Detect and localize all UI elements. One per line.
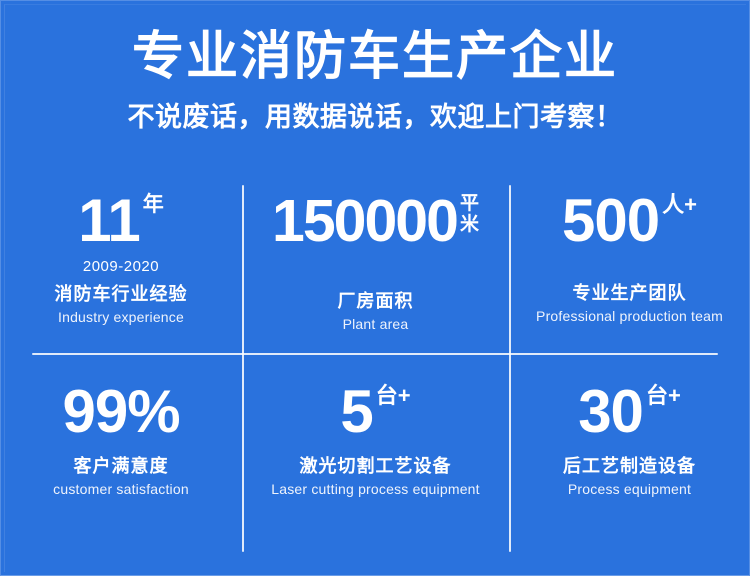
stat-unit: 台+	[376, 385, 411, 407]
stat-label-cn: 消防车行业经验	[55, 283, 188, 305]
stat-year-range: 2009-2020	[83, 258, 159, 276]
page-title: 专业消防车生产企业	[0, 26, 750, 88]
stat-unit-bottom: 米	[460, 214, 479, 235]
stat-label-cn: 厂房面积	[338, 290, 414, 312]
stat-value: 11	[78, 190, 139, 252]
stat-label-en: Professional production team	[536, 307, 723, 325]
stat-value-row: 11 年	[78, 190, 163, 252]
stat-label-en: customer satisfaction	[53, 480, 189, 498]
stat-label-en: Process equipment	[568, 480, 691, 498]
stat-value-row: 500 人+	[562, 190, 697, 252]
stat-cell-industry-experience: 11 年 2009-2020 消防车行业经验 Industry experien…	[0, 178, 242, 353]
stat-value: 30	[578, 381, 643, 443]
stat-unit: 人+	[662, 194, 697, 216]
stat-unit: 年	[143, 194, 164, 216]
promo-banner: 专业消防车生产企业 不说废话，用数据说话，欢迎上门考察！ 11 年 2009-2…	[0, 0, 750, 576]
stat-cell-customer-satisfaction: 99% 客户满意度 customer satisfaction	[0, 353, 242, 552]
stat-label-cn: 客户满意度	[74, 455, 169, 477]
stat-cell-plant-area: 150000 平 米 厂房面积 Plant area	[242, 178, 509, 353]
stat-label-cn: 激光切割工艺设备	[300, 455, 452, 477]
stat-label-en: Industry experience	[58, 308, 184, 326]
stat-value: 5	[340, 381, 372, 443]
stat-cell-production-team: 500 人+ 专业生产团队 Professional production te…	[509, 178, 750, 353]
stat-value-row: 150000 平 米	[272, 190, 479, 252]
stat-value: 500	[562, 190, 659, 252]
stat-label-cn: 后工艺制造设备	[563, 455, 696, 477]
stat-cell-process-equipment: 30 台+ 后工艺制造设备 Process equipment	[509, 353, 750, 552]
stat-label-en: Plant area	[343, 315, 409, 333]
stat-value: 150000	[272, 190, 457, 252]
stat-unit-top: 平	[460, 193, 479, 214]
stat-value-row: 5 台+	[340, 381, 410, 443]
stat-cell-laser-cutting-equipment: 5 台+ 激光切割工艺设备 Laser cutting process equi…	[242, 353, 509, 552]
banner-header: 专业消防车生产企业 不说废话，用数据说话，欢迎上门考察！	[0, 26, 750, 134]
stats-grid: 11 年 2009-2020 消防车行业经验 Industry experien…	[0, 178, 750, 552]
stat-value-row: 99%	[62, 381, 179, 443]
stat-unit: 平 米	[460, 193, 479, 235]
stat-value: 99%	[62, 381, 179, 443]
stat-unit: 台+	[646, 385, 681, 407]
page-subtitle: 不说废话，用数据说话，欢迎上门考察！	[0, 100, 750, 134]
stat-label-cn: 专业生产团队	[573, 282, 687, 304]
stat-value-row: 30 台+	[578, 381, 681, 443]
stat-label-en: Laser cutting process equipment	[271, 480, 480, 498]
